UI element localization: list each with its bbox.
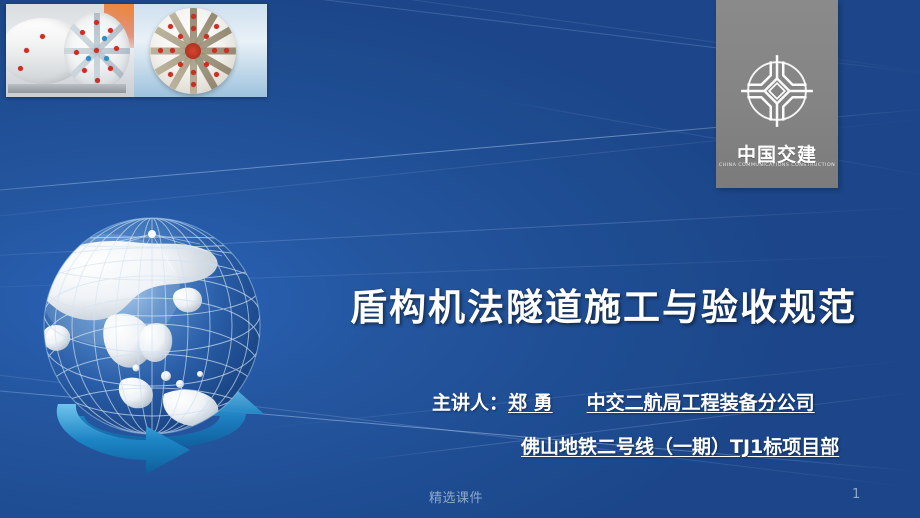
presenter-label: 主讲人： [432, 392, 508, 414]
cutterhead-disc [150, 8, 236, 94]
cccc-logo-panel: 中国交建 CHINA COMMUNICATIONS CONSTRUCTION [716, 0, 838, 188]
presenter-organization: 中交二航局工程装备分公司 [587, 392, 815, 414]
project-line: 佛山地铁二号线（一期）TJ1标项目部 [521, 432, 839, 459]
presenter-line: 主讲人：郑 勇中交二航局工程装备分公司 [432, 388, 815, 415]
globe-with-arrow-graphic [14, 198, 304, 498]
logo-english-name: CHINA COMMUNICATIONS CONSTRUCTION [713, 163, 841, 168]
photo-tbm-cutterhead-front-view [134, 4, 267, 97]
page-number: 1 [852, 487, 860, 502]
tbm-cradle-rail [8, 84, 126, 93]
header-photo-strip [6, 4, 267, 97]
presenter-name: 郑 勇 [508, 392, 553, 414]
tbm-cutterhead [64, 12, 130, 90]
page-title: 盾构机法隧道施工与验收规范 [350, 277, 857, 331]
footer-note: 精选课件 [429, 487, 483, 506]
cccc-emblem-icon [738, 52, 816, 130]
presentation-slide: 中国交建 CHINA COMMUNICATIONS CONSTRUCTION [0, 0, 920, 518]
photo-tbm-shield-side-view [6, 4, 134, 97]
project-name: 佛山地铁二号线（一期）TJ1标项目部 [521, 436, 839, 458]
cutterhead-hub [185, 43, 201, 59]
